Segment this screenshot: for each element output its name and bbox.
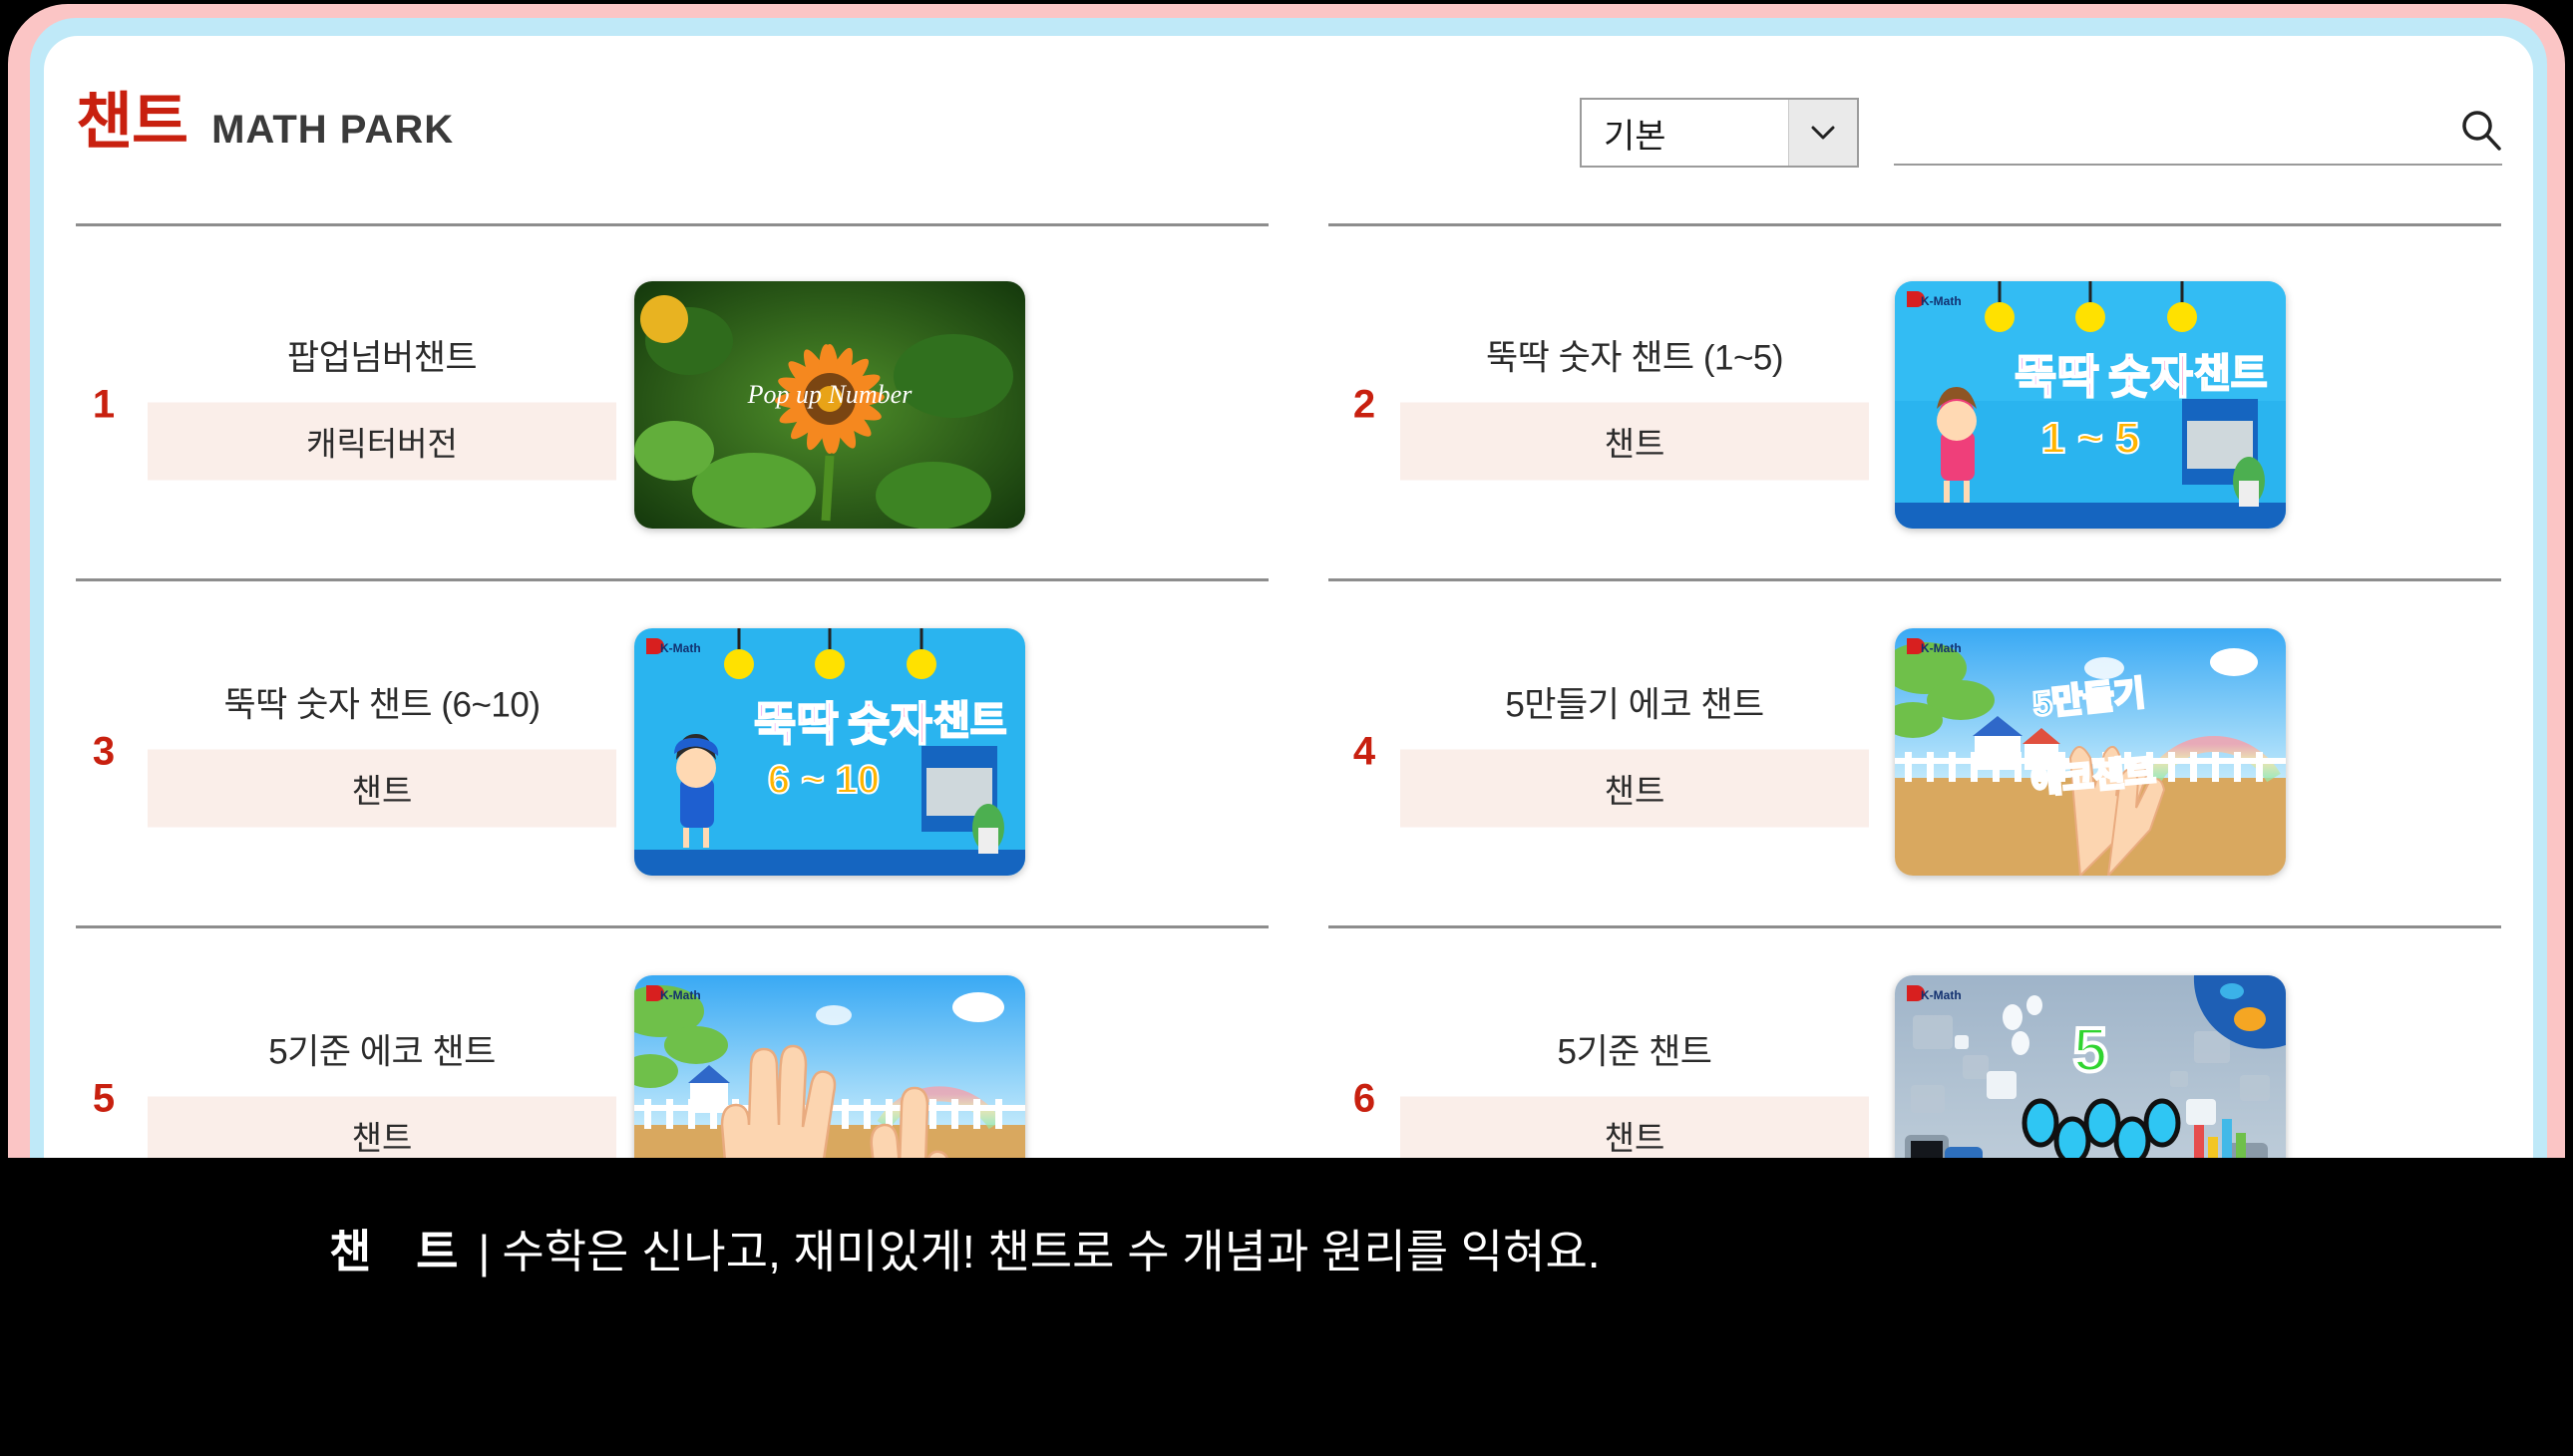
svg-text:K-Math: K-Math [1921, 641, 1962, 655]
svg-text:1 ~ 5: 1 ~ 5 [2040, 414, 2139, 463]
svg-text:K-Math: K-Math [1921, 294, 1962, 308]
item-tag[interactable]: 챈트 [1400, 750, 1869, 828]
item-text-column: 5만들기 에코 챈트 챈트 [1400, 677, 1869, 828]
svg-text:챈트: 챈트 [2194, 352, 2268, 396]
svg-text:숫자: 숫자 [2108, 351, 2193, 403]
search-icon[interactable] [2454, 104, 2508, 163]
search-input[interactable] [1894, 98, 2456, 162]
filter-select-value: 기본 [1582, 109, 1788, 158]
item-text-column: 5기준 챈트 챈트 [1400, 1024, 1869, 1175]
item-title: 5기준 챈트 [1400, 1024, 1869, 1075]
filter-select[interactable]: 기본 [1580, 98, 1859, 168]
list-row: 3 뚝딱 숫자 챈트 (6~10) 챈트 [44, 578, 2533, 925]
item-title: 5기준 에코 챈트 [148, 1024, 616, 1075]
app-screen: 챈트 MATH PARK 기본 [0, 0, 2573, 1456]
item-tag[interactable]: 챈트 [148, 750, 616, 828]
thumbnail-caption: Pop up Number [747, 380, 914, 409]
svg-text:K-Math: K-Math [660, 641, 701, 655]
item-title: 팝업넘버챈트 [148, 330, 616, 381]
svg-text:6 ~ 10: 6 ~ 10 [768, 758, 880, 802]
item-number: 5 [76, 1077, 132, 1122]
item-number: 3 [76, 730, 132, 775]
item-title: 뚝딱 숫자 챈트 (1~5) [1400, 330, 1869, 381]
item-text-column: 5기준 에코 챈트 챈트 [148, 1024, 616, 1175]
item-number: 1 [76, 383, 132, 428]
item-title: 5만들기 에코 챈트 [1400, 677, 1869, 728]
make-five-eco-chant-thumbnail[interactable]: 5만들기 에코챈트 K-Math [1895, 628, 2286, 876]
item-text-column: 뚝딱 숫자 챈트 (6~10) 챈트 [148, 677, 616, 828]
chant-list: 1 팝업넘버챈트 캐릭터버전 [44, 231, 2533, 1273]
item-number: 4 [1336, 730, 1392, 775]
list-item[interactable]: 1 팝업넘버챈트 캐릭터버전 [44, 231, 1288, 578]
svg-text:챈트: 챈트 [933, 699, 1007, 743]
item-tag[interactable]: 캐릭터버전 [148, 403, 616, 481]
svg-text:뚝딱: 뚝딱 [2015, 351, 2099, 403]
item-text-column: 뚝딱 숫자 챈트 (1~5) 챈트 [1400, 330, 1869, 481]
list-row: 1 팝업넘버챈트 캐릭터버전 [44, 231, 2533, 578]
brand-title-en: MATH PARK [211, 110, 454, 150]
page-header: 챈트 MATH PARK 기본 [44, 36, 2533, 185]
chevron-down-icon[interactable] [1788, 100, 1857, 166]
item-number: 6 [1336, 1077, 1392, 1122]
list-item[interactable]: 2 뚝딱 숫자 챈트 (1~5) 챈트 [1288, 231, 2533, 578]
footer-separator: | [478, 1226, 490, 1277]
footer-label: 챈 트 [329, 1226, 474, 1277]
item-number: 2 [1336, 383, 1392, 428]
ttukttak-number-chant-1-5-thumbnail[interactable]: 뚝딱 숫자 챈트 1 ~ 5 [1895, 281, 2286, 529]
header-divider-left [76, 223, 1269, 226]
item-text-column: 팝업넘버챈트 캐릭터버전 [148, 330, 616, 481]
footer-banner: 챈 트|수학은 신나고, 재미있게! 챈트로 수 개념과 원리를 익혀요. [0, 1158, 2573, 1456]
svg-text:K-Math: K-Math [1921, 988, 1962, 1002]
item-tag[interactable]: 챈트 [1400, 403, 1869, 481]
footer-text: 챈 트|수학은 신나고, 재미있게! 챈트로 수 개념과 원리를 익혀요. [329, 1216, 1601, 1281]
brand-title-ko: 챈트 [76, 92, 187, 154]
svg-text:K-Math: K-Math [660, 988, 701, 1002]
search-box[interactable] [1894, 98, 2502, 170]
list-item[interactable]: 3 뚝딱 숫자 챈트 (6~10) 챈트 [44, 578, 1288, 925]
thumbnail-caption: 5 [2073, 1016, 2107, 1085]
svg-text:뚝딱: 뚝딱 [754, 698, 839, 750]
list-item[interactable]: 4 5만들기 에코 챈트 챈트 [1288, 578, 2533, 925]
footer-description: 수학은 신나고, 재미있게! 챈트로 수 개념과 원리를 익혀요. [502, 1226, 1600, 1277]
header-divider-right [1328, 223, 2501, 226]
popup-number-chant-thumbnail[interactable]: Pop up Number [634, 281, 1025, 529]
ttukttak-number-chant-6-10-thumbnail[interactable]: 뚝딱 숫자 챈트 6 ~ 10 [634, 628, 1025, 876]
svg-text:숫자: 숫자 [848, 698, 932, 750]
brand-logo: 챈트 MATH PARK [76, 92, 454, 154]
item-title: 뚝딱 숫자 챈트 (6~10) [148, 677, 616, 728]
search-underline [1894, 164, 2502, 166]
